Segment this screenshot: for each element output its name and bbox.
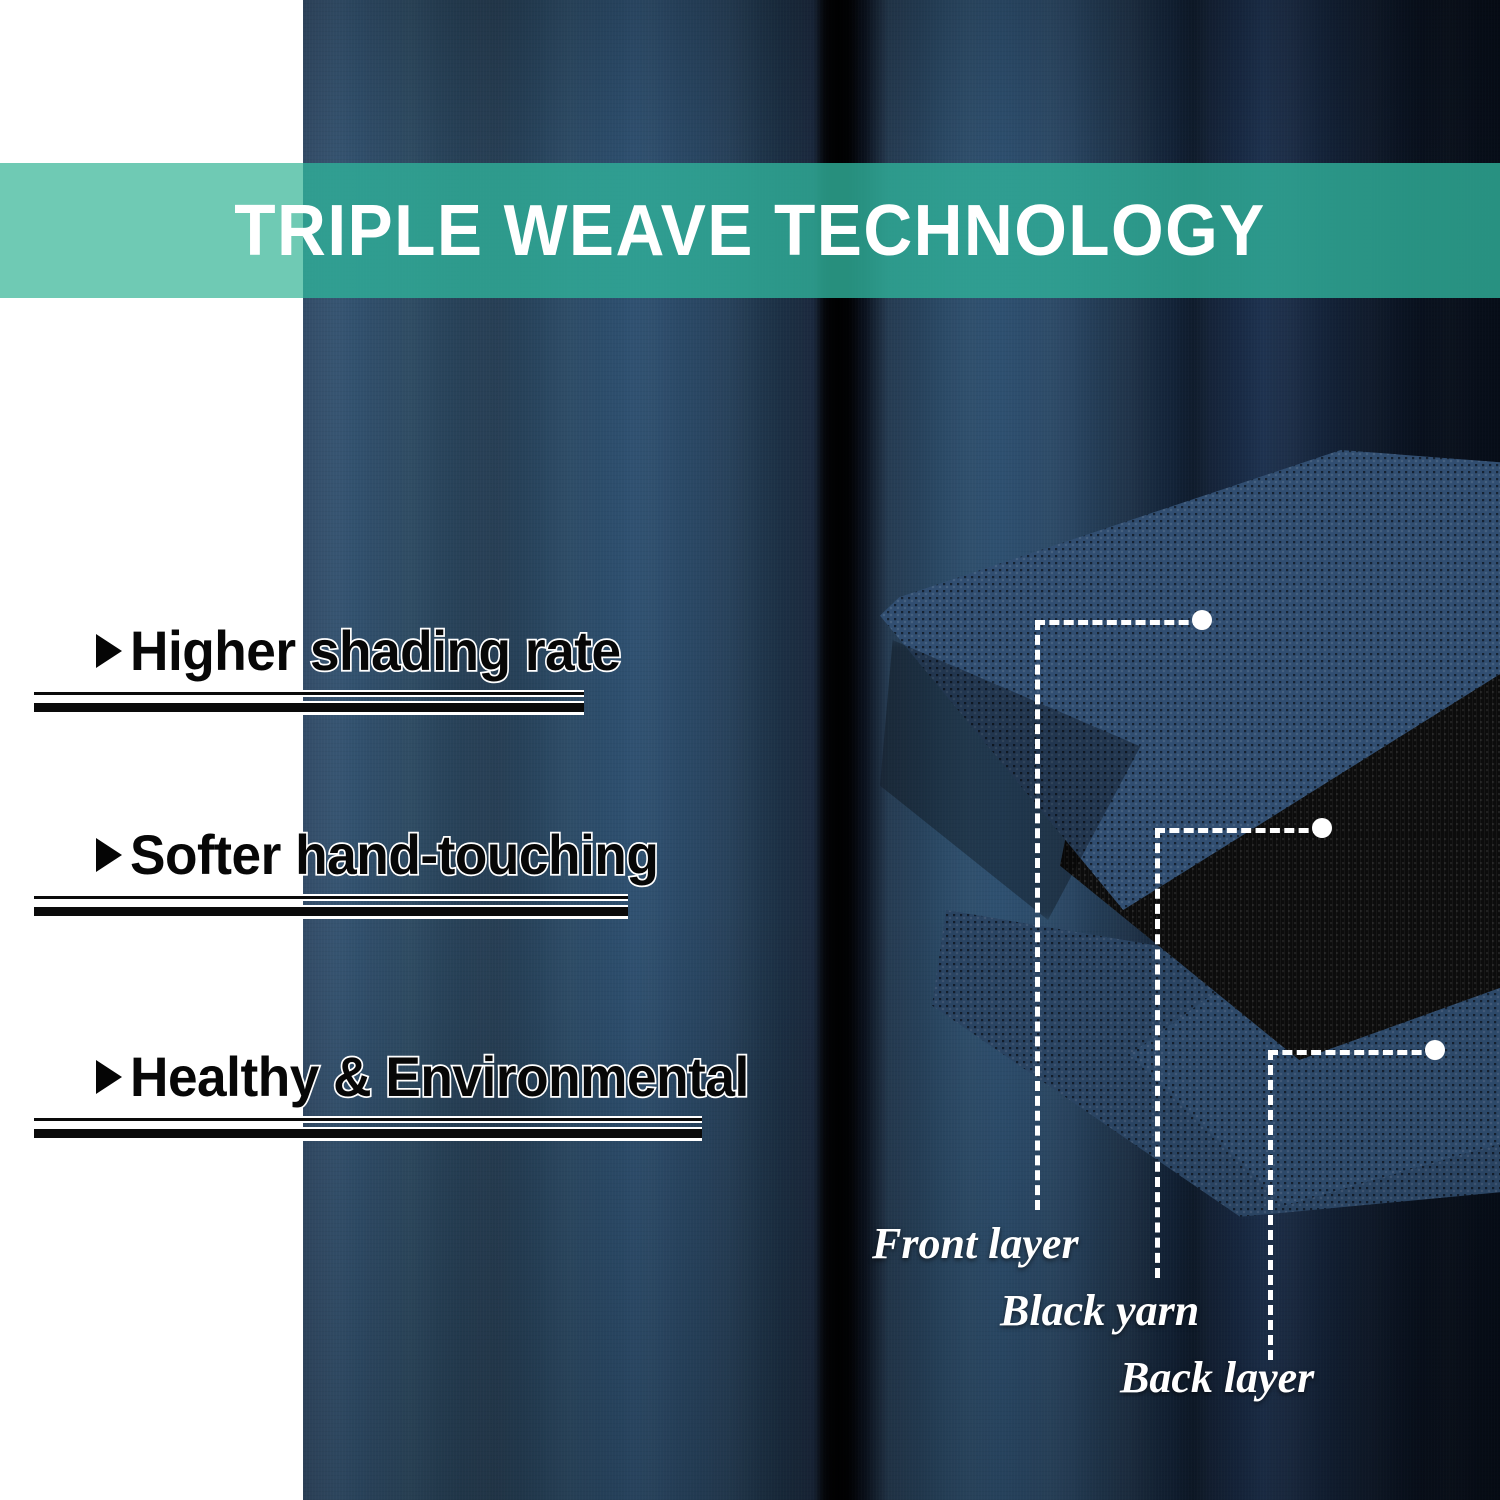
callout-back-layer-horizontal — [1268, 1050, 1436, 1055]
callout-front-layer-horizontal — [1035, 620, 1203, 625]
label-back-layer: Back layer — [1120, 1352, 1314, 1403]
callout-black-yarn-vertical — [1155, 828, 1160, 1278]
feature-label-1: Higher shading rate — [130, 618, 621, 683]
triangle-right-icon — [96, 838, 122, 872]
feature-rule-thin-1 — [34, 692, 584, 695]
callout-back-layer-vertical — [1268, 1050, 1273, 1360]
feature-row-1: Higher shading rate — [96, 618, 646, 683]
feature-label-3: Healthy & Environmental — [130, 1044, 749, 1109]
triangle-right-icon — [96, 1060, 122, 1094]
callout-black-yarn-dot — [1312, 818, 1332, 838]
label-front-layer: Front layer — [872, 1218, 1079, 1269]
feature-label-2: Softer hand-touching — [130, 822, 658, 887]
feature-row-2: Softer hand-touching — [96, 822, 686, 887]
label-black-yarn: Black yarn — [1000, 1285, 1199, 1336]
feature-rule-thick-1 — [34, 703, 584, 712]
page-title: TRIPLE WEAVE TECHNOLOGY — [45, 163, 1455, 298]
product-feature-image: Front layer Black yarn Back layer TRIPLE… — [0, 0, 1500, 1500]
feature-item-3: Healthy & Environmental — [96, 1044, 781, 1109]
feature-item-2: Softer hand-touching — [96, 822, 686, 887]
callout-front-layer-dot — [1192, 610, 1212, 630]
feature-rule-thin-2 — [34, 896, 628, 899]
feature-rule-thin-3 — [34, 1118, 702, 1121]
headline-banner: TRIPLE WEAVE TECHNOLOGY — [0, 163, 1500, 298]
callout-back-layer-dot — [1425, 1040, 1445, 1060]
feature-row-3: Healthy & Environmental — [96, 1044, 781, 1109]
triangle-right-icon — [96, 634, 122, 668]
callout-front-layer-vertical — [1035, 620, 1040, 1210]
feature-rule-thick-3 — [34, 1129, 702, 1138]
feature-rule-thick-2 — [34, 907, 628, 916]
feature-item-1: Higher shading rate — [96, 618, 646, 683]
callout-black-yarn-horizontal — [1155, 828, 1323, 833]
